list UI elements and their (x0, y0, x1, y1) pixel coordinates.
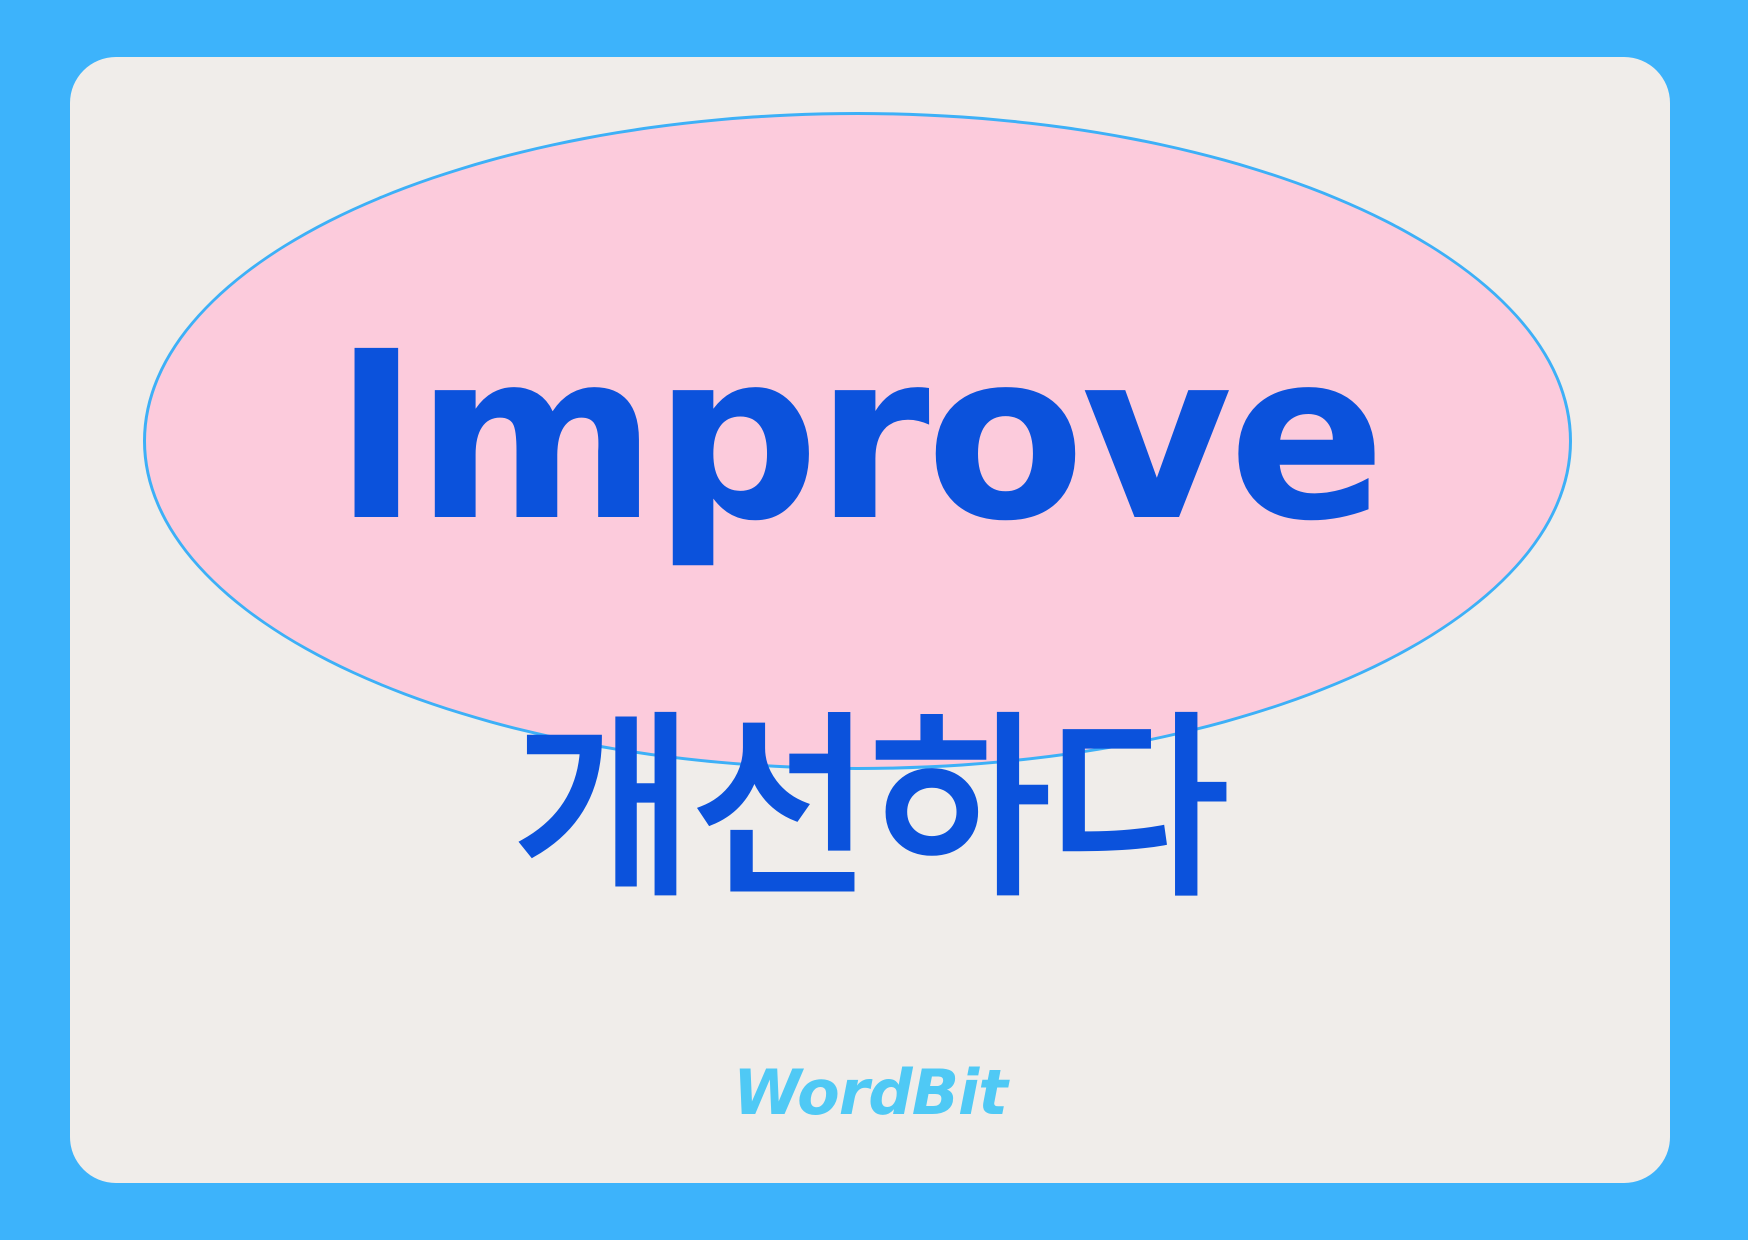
term-highlight-ellipse: Improve (143, 112, 1572, 770)
english-term: Improve (143, 112, 1572, 770)
wordbit-brand-logo: WordBit (70, 1062, 1670, 1124)
korean-translation: 개선하다 (70, 712, 1670, 908)
flashcard-screen: Improve 개선하다 WordBit (0, 0, 1748, 1240)
vocabulary-card[interactable]: Improve 개선하다 WordBit (70, 57, 1670, 1183)
